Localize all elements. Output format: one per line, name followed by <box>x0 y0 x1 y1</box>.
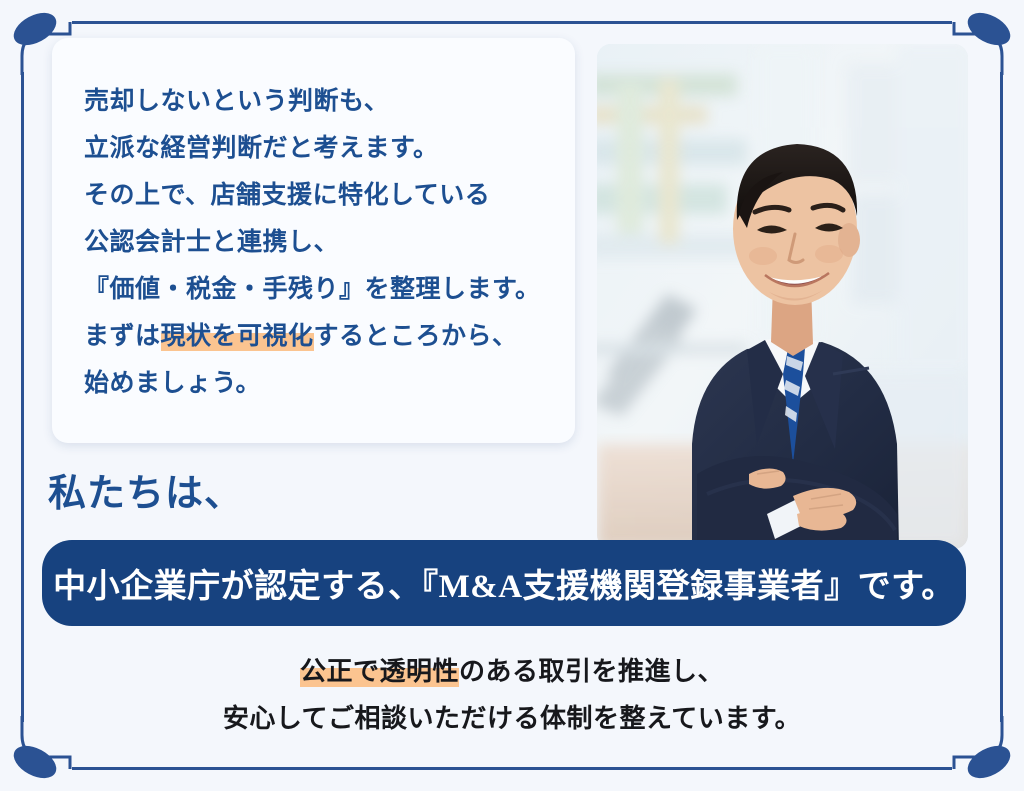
bottom-caption: 公正で透明性のある取引を推進し、 安心してご相談いただける体制を整えています。 <box>0 648 1024 742</box>
quote-card: 売却しないという判断も、 立派な経営判断だと考えます。 その上で、店舗支援に特化… <box>52 38 575 443</box>
certification-banner-text: 中小企業庁が認定する、『M&A支援機関登録事業者』です。 <box>53 559 955 607</box>
frame-line-left <box>21 72 24 722</box>
frame-line-right <box>1000 72 1003 722</box>
quote-line-7: 始めましょう。 <box>84 360 545 407</box>
caption-line-1-post: のある取引を推進し、 <box>459 656 724 686</box>
quote-line-6-pre: まずは <box>84 322 161 350</box>
frame-line-bottom <box>72 767 952 770</box>
caption-line-1: 公正で透明性のある取引を推進し、 <box>0 648 1024 695</box>
certification-banner: 中小企業庁が認定する、『M&A支援機関登録事業者』です。 <box>42 540 966 626</box>
lead-heading: 私たちは、 <box>48 462 243 517</box>
businessman-photo <box>597 44 968 549</box>
quote-line-3: その上で、店舗支援に特化している <box>84 172 545 219</box>
quote-line-6-post: するところから、 <box>314 322 518 350</box>
caption-line-2: 安心してご相談いただける体制を整えています。 <box>0 695 1024 742</box>
quote-line-1: 売却しないという判断も、 <box>84 78 545 125</box>
promo-banner-stage: 売却しないという判断も、 立派な経営判断だと考えます。 その上で、店舗支援に特化… <box>0 0 1024 791</box>
frame-line-top <box>72 21 952 24</box>
quote-line-5: 『価値・税金・手残り』を整理します。 <box>84 266 545 313</box>
quote-line-2: 立派な経営判断だと考えます。 <box>84 125 545 172</box>
caption-line-1-highlight: 公正で透明性 <box>300 656 459 687</box>
quote-line-4: 公認会計士と連携し、 <box>84 219 545 266</box>
quote-line-6: まずは現状を可視化するところから、 <box>84 313 545 360</box>
quote-line-6-highlight: 現状を可視化 <box>161 322 314 351</box>
